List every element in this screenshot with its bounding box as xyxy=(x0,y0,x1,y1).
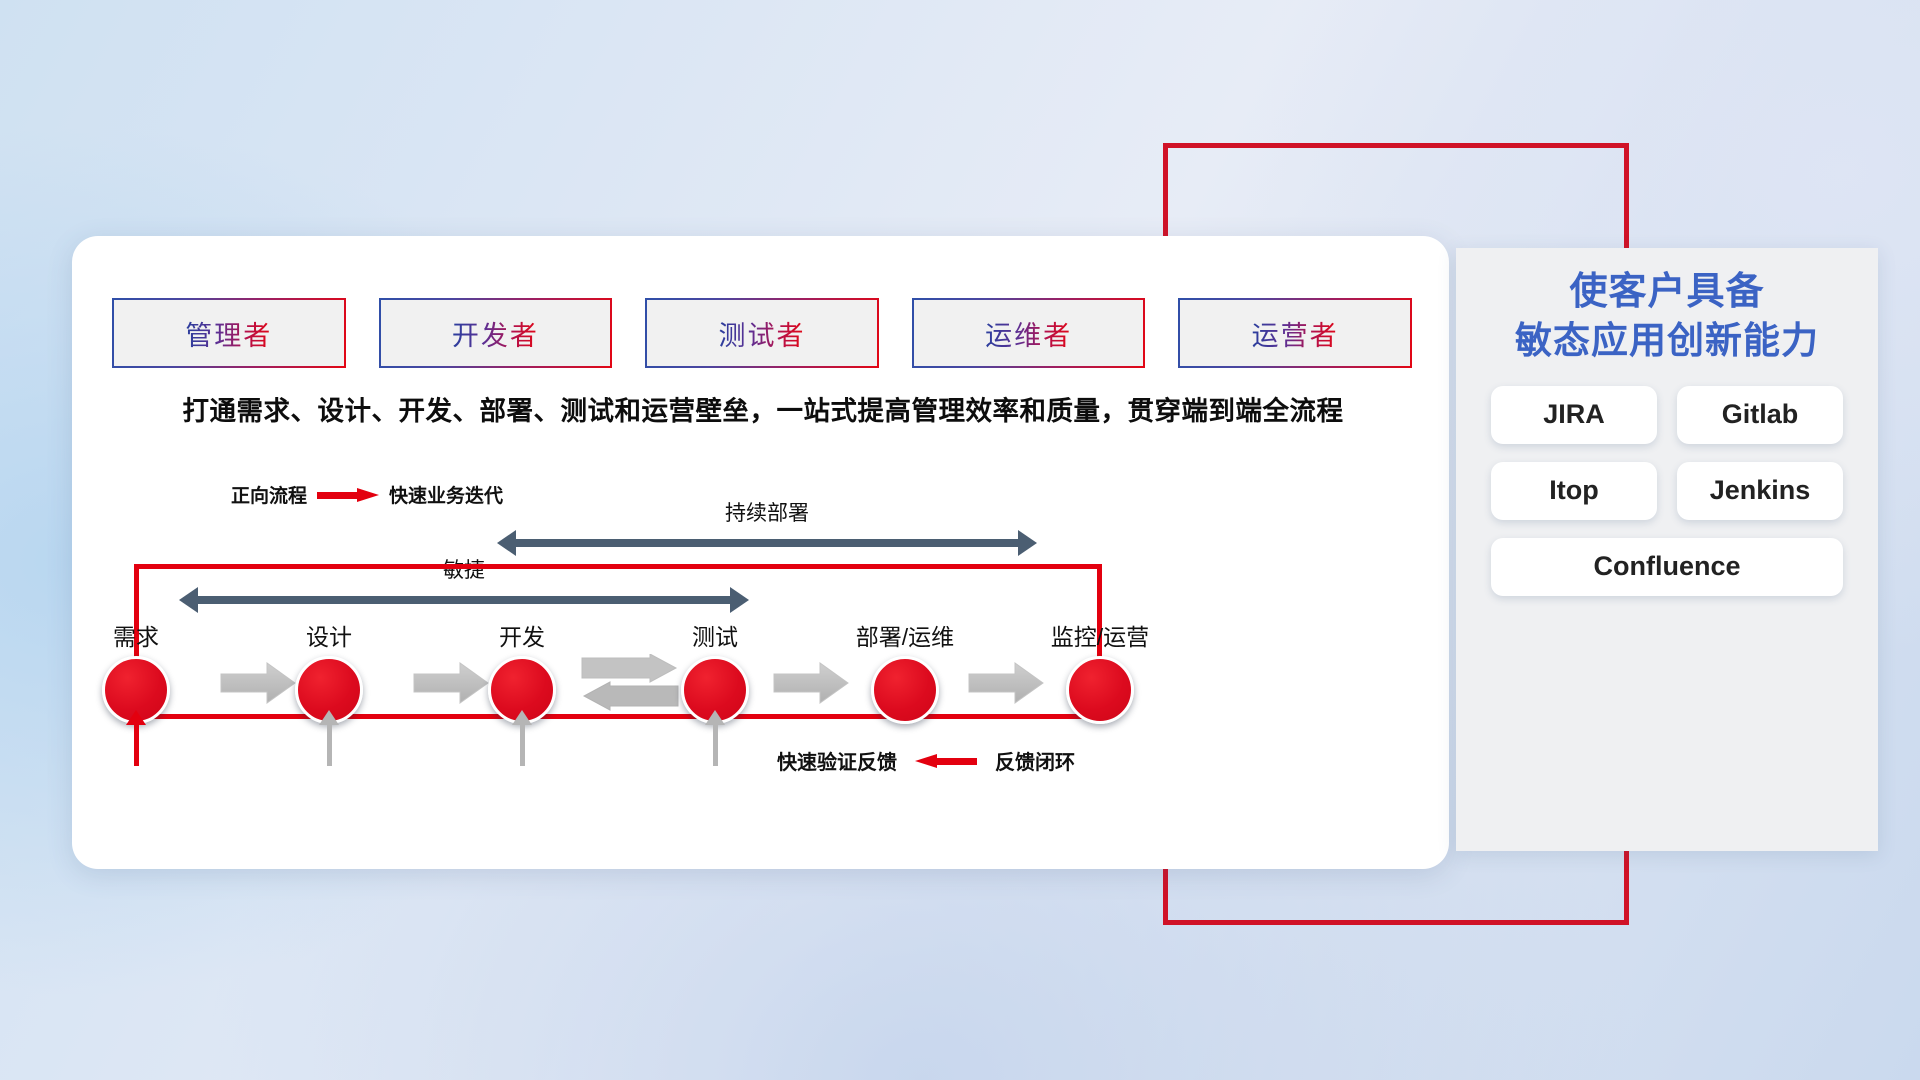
value-proposition-panel: 使客户具备 敏态应用创新能力 JIRA Gitlab Itop Jenkins … xyxy=(1456,248,1878,851)
flow-arrow-2-icon xyxy=(412,661,490,705)
role-label: 运维者 xyxy=(985,314,1072,353)
role-box-ops[interactable]: 运维者 xyxy=(912,298,1146,368)
flow-arrow-4-icon xyxy=(967,661,1045,705)
role-label: 管理者 xyxy=(185,314,272,353)
arrow-right-head-icon xyxy=(730,587,749,613)
loop-line-bottom xyxy=(134,714,1102,719)
role-box-manager[interactable]: 管理者 xyxy=(112,298,346,368)
legend-forward-flow: 正向流程 快速业务迭代 xyxy=(231,481,503,508)
tool-chip-jenkins[interactable]: Jenkins xyxy=(1677,462,1843,520)
arrow-right-red-icon xyxy=(317,488,379,502)
pipeline-node-design[interactable]: 设计 xyxy=(269,618,389,766)
arrow-bar xyxy=(514,539,1020,547)
tool-chip-gitlab[interactable]: Gitlab xyxy=(1677,386,1843,444)
flow-arrow-1-icon xyxy=(219,661,297,705)
panel-title-line2: 敏态应用创新能力 xyxy=(1456,317,1878,364)
arrow-bar xyxy=(196,596,732,604)
flow-arrow-3-icon xyxy=(772,661,850,705)
node-label: 测试 xyxy=(655,618,775,652)
span-label: 敏捷 xyxy=(179,554,749,584)
node-label: 设计 xyxy=(269,618,389,652)
tool-chip-list: JIRA Gitlab Itop Jenkins Confluence xyxy=(1456,386,1878,596)
node-label: 部署/运维 xyxy=(830,618,980,652)
node-stem-gray xyxy=(520,724,525,766)
pipeline-node-deploy-ops[interactable]: 部署/运维 xyxy=(830,618,980,724)
arrow-left-red-icon xyxy=(915,754,977,768)
legend-feedback-result: 反馈闭环 xyxy=(995,746,1075,775)
span-continuous-deployment: 持续部署 xyxy=(497,530,1037,556)
panel-title-line1: 使客户具备 xyxy=(1569,271,1764,313)
pipeline-node-development[interactable]: 开发 xyxy=(462,618,582,766)
flow-arrow-bidirectional-icon xyxy=(580,654,680,712)
role-label: 测试者 xyxy=(718,314,805,353)
loop-line-left xyxy=(134,564,139,699)
tool-chip-itop[interactable]: Itop xyxy=(1491,462,1657,520)
node-stem-gray xyxy=(327,724,332,766)
pipeline-node-testing[interactable]: 测试 xyxy=(655,618,775,766)
span-agile: 敏捷 xyxy=(179,587,749,613)
node-label: 开发 xyxy=(462,618,582,652)
tool-chip-jira[interactable]: JIRA xyxy=(1491,386,1657,444)
panel-title: 使客户具备 敏态应用创新能力 xyxy=(1456,268,1878,364)
node-stem-red xyxy=(134,724,139,766)
role-label: 开发者 xyxy=(452,314,539,353)
slide-canvas: 管理者 开发者 测试者 运维者 运营者 打通需求、设计、开发、部署、测试和运营壁… xyxy=(0,0,1920,1080)
description-text: 打通需求、设计、开发、部署、测试和运营壁垒，一站式提高管理效率和质量，贯穿端到端… xyxy=(108,389,1418,428)
legend-feedback-label: 快速验证反馈 xyxy=(777,746,897,775)
legend-forward-label: 正向流程 xyxy=(231,481,307,508)
devops-flow-card: 管理者 开发者 测试者 运维者 运营者 打通需求、设计、开发、部署、测试和运营壁… xyxy=(72,236,1449,869)
legend-feedback-loop: 快速验证反馈 反馈闭环 xyxy=(777,746,1075,775)
role-box-tester[interactable]: 测试者 xyxy=(645,298,879,368)
tool-chip-confluence[interactable]: Confluence xyxy=(1491,538,1843,596)
span-label: 持续部署 xyxy=(497,497,1037,527)
role-label: 运营者 xyxy=(1252,314,1339,353)
role-box-operations[interactable]: 运营者 xyxy=(1178,298,1412,368)
loop-line-top xyxy=(134,564,1102,569)
role-box-row: 管理者 开发者 测试者 运维者 运营者 xyxy=(112,298,1412,368)
arrow-right-head-icon xyxy=(1018,530,1037,556)
node-stem-gray xyxy=(713,724,718,766)
role-box-developer[interactable]: 开发者 xyxy=(379,298,613,368)
loop-line-right-lower xyxy=(1097,634,1102,719)
legend-forward-result: 快速业务迭代 xyxy=(389,481,503,508)
